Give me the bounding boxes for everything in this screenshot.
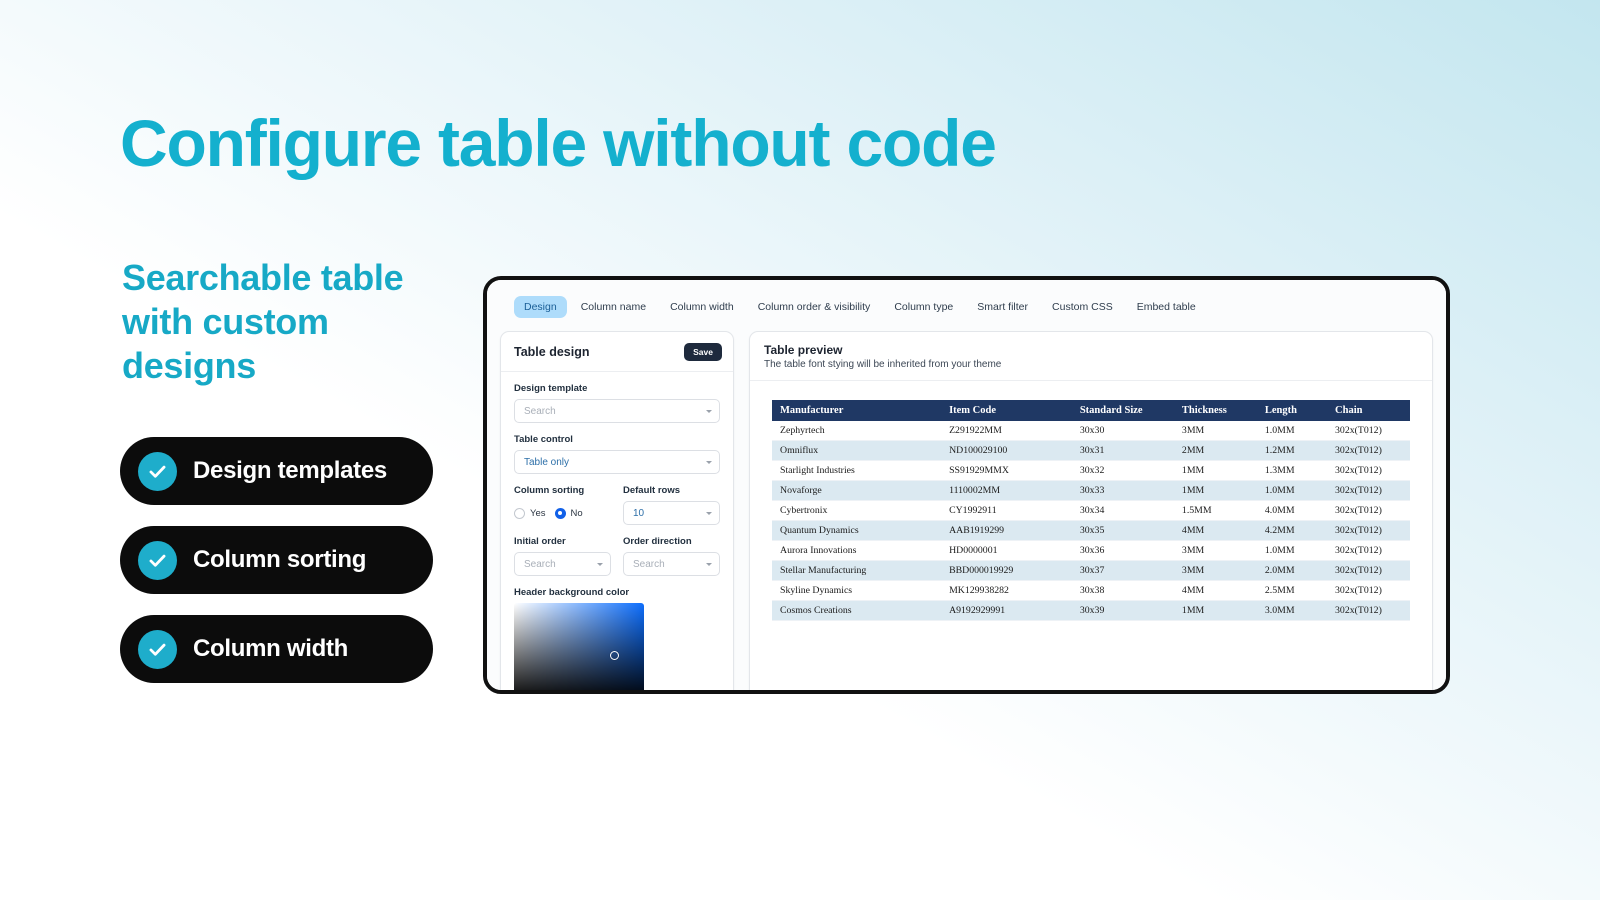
order-direction-select[interactable]: Search — [623, 552, 720, 576]
preview-table: ManufacturerItem CodeStandard SizeThickn… — [772, 400, 1410, 621]
initial-order-field: Initial order Search — [514, 536, 611, 576]
table-cell: 4MM — [1174, 581, 1257, 601]
table-cell: 1MM — [1174, 601, 1257, 621]
header-background-color-field: Header background color — [514, 587, 720, 690]
table-cell: 1.0MM — [1257, 481, 1327, 501]
initial-order-label: Initial order — [514, 536, 611, 547]
table-row: ZephyrtechZ291922MM30x303MM1.0MM302x(T01… — [772, 421, 1410, 441]
table-preview-panel: Table preview The table font stying will… — [749, 331, 1433, 690]
table-cell: 302x(T012) — [1327, 481, 1410, 501]
table-cell: 30x33 — [1072, 481, 1174, 501]
preview-header: Table preview The table font stying will… — [750, 332, 1432, 381]
table-control-value: Table only — [524, 457, 569, 468]
table-cell: 3MM — [1174, 561, 1257, 581]
table-cell: 302x(T012) — [1327, 421, 1410, 441]
check-circle-icon — [138, 541, 177, 580]
table-cell: Stellar Manufacturing — [772, 561, 941, 581]
column-sorting-label: Column sorting — [514, 485, 611, 496]
table-cell: HD0000001 — [941, 541, 1072, 561]
design-template-placeholder: Search — [524, 406, 556, 417]
tab-custom-css[interactable]: Custom CSS — [1042, 296, 1123, 318]
table-cell: 4.2MM — [1257, 521, 1327, 541]
table-cell: 302x(T012) — [1327, 601, 1410, 621]
order-direction-label: Order direction — [623, 536, 720, 547]
feature-pill-label: Column sorting — [193, 546, 366, 574]
design-template-select[interactable]: Search — [514, 399, 720, 423]
table-cell: MK129938282 — [941, 581, 1072, 601]
page-subtitle: Searchable table with custom designs — [122, 256, 462, 388]
default-rows-select[interactable]: 10 — [623, 501, 720, 525]
preview-panel-title: Table preview — [764, 343, 1418, 357]
column-sorting-option-no[interactable]: No — [555, 508, 583, 519]
table-row: OmnifluxND10002910030x312MM1.2MM302x(T01… — [772, 441, 1410, 461]
table-cell: 2MM — [1174, 441, 1257, 461]
table-row: Starlight IndustriesSS91929MMX30x321MM1.… — [772, 461, 1410, 481]
table-cell: 302x(T012) — [1327, 581, 1410, 601]
table-cell: 1.3MM — [1257, 461, 1327, 481]
table-control-label: Table control — [514, 434, 720, 445]
check-circle-icon — [138, 630, 177, 669]
table-cell: 4.0MM — [1257, 501, 1327, 521]
table-cell: AAB1919299 — [941, 521, 1072, 541]
table-cell: 30x37 — [1072, 561, 1174, 581]
table-cell: 30x34 — [1072, 501, 1174, 521]
chevron-down-icon — [706, 461, 712, 464]
table-cell: Starlight Industries — [772, 461, 941, 481]
table-column-header: Length — [1257, 400, 1327, 421]
table-head: ManufacturerItem CodeStandard SizeThickn… — [772, 400, 1410, 421]
table-cell: Z291922MM — [941, 421, 1072, 441]
table-cell: 1.0MM — [1257, 541, 1327, 561]
table-cell: 1.2MM — [1257, 441, 1327, 461]
table-cell: Cybertronix — [772, 501, 941, 521]
feature-pill: Column width — [120, 615, 433, 683]
feature-pill: Column sorting — [120, 526, 433, 594]
table-cell: Novaforge — [772, 481, 941, 501]
header-background-color-label: Header background color — [514, 587, 720, 598]
default-rows-label: Default rows — [623, 485, 720, 496]
table-column-header: Thickness — [1174, 400, 1257, 421]
tab-smart-filter[interactable]: Smart filter — [967, 296, 1038, 318]
table-column-header: Manufacturer — [772, 400, 941, 421]
initial-order-placeholder: Search — [524, 559, 556, 570]
table-cell: BBD000019929 — [941, 561, 1072, 581]
radio-label-yes: Yes — [530, 508, 546, 519]
table-column-header: Chain — [1327, 400, 1410, 421]
table-row: Stellar ManufacturingBBD00001992930x373M… — [772, 561, 1410, 581]
panels-row: Table design Save Design template Search… — [500, 331, 1433, 690]
app-window: DesignColumn nameColumn widthColumn orde… — [483, 276, 1450, 694]
feature-pill-label: Column width — [193, 635, 348, 663]
table-control-select[interactable]: Table only — [514, 450, 720, 474]
settings-panel-title: Table design — [514, 345, 589, 359]
feature-pill-label: Design templates — [193, 457, 387, 485]
preview-body: ManufacturerItem CodeStandard SizeThickn… — [750, 381, 1432, 621]
page-title: Configure table without code — [120, 110, 996, 176]
table-cell: ND100029100 — [941, 441, 1072, 461]
tab-column-type[interactable]: Column type — [884, 296, 963, 318]
table-cell: Omniflux — [772, 441, 941, 461]
table-cell: 302x(T012) — [1327, 521, 1410, 541]
table-cell: CY1992911 — [941, 501, 1072, 521]
table-cell: Cosmos Creations — [772, 601, 941, 621]
default-rows-field: Default rows 10 — [623, 485, 720, 525]
table-cell: 302x(T012) — [1327, 561, 1410, 581]
design-template-label: Design template — [514, 383, 720, 394]
table-cell: 1.5MM — [1174, 501, 1257, 521]
table-cell: 3MM — [1174, 541, 1257, 561]
app-window-content: DesignColumn nameColumn widthColumn orde… — [487, 280, 1446, 690]
order-direction-field: Order direction Search — [623, 536, 720, 576]
table-cell: 302x(T012) — [1327, 441, 1410, 461]
tab-column-width[interactable]: Column width — [660, 296, 744, 318]
table-column-header: Item Code — [941, 400, 1072, 421]
settings-form: Design template Search Table control Tab… — [501, 372, 733, 690]
table-cell: 1MM — [1174, 461, 1257, 481]
order-direction-placeholder: Search — [633, 559, 665, 570]
table-row: Novaforge1110002MM30x331MM1.0MM302x(T012… — [772, 481, 1410, 501]
radio-label-no: No — [571, 508, 583, 519]
table-cell: 30x38 — [1072, 581, 1174, 601]
table-cell: 302x(T012) — [1327, 461, 1410, 481]
table-row: Cosmos CreationsA919292999130x391MM3.0MM… — [772, 601, 1410, 621]
save-button[interactable]: Save — [684, 343, 722, 361]
settings-header: Table design Save — [501, 332, 733, 372]
table-cell: 30x35 — [1072, 521, 1174, 541]
table-cell: 4MM — [1174, 521, 1257, 541]
table-cell: Zephyrtech — [772, 421, 941, 441]
table-column-header: Standard Size — [1072, 400, 1174, 421]
table-cell: 30x30 — [1072, 421, 1174, 441]
table-cell: 302x(T012) — [1327, 501, 1410, 521]
tab-design[interactable]: Design — [514, 296, 567, 318]
table-cell: 3.0MM — [1257, 601, 1327, 621]
table-cell: 1.0MM — [1257, 421, 1327, 441]
chevron-down-icon — [706, 563, 712, 566]
chevron-down-icon — [706, 410, 712, 413]
table-cell: Skyline Dynamics — [772, 581, 941, 601]
table-cell: 2.0MM — [1257, 561, 1327, 581]
table-cell: 1MM — [1174, 481, 1257, 501]
radio-unchecked-icon — [514, 508, 525, 519]
table-header-row: ManufacturerItem CodeStandard SizeThickn… — [772, 400, 1410, 421]
table-cell: 2.5MM — [1257, 581, 1327, 601]
table-row: Aurora InnovationsHD000000130x363MM1.0MM… — [772, 541, 1410, 561]
table-cell: SS91929MMX — [941, 461, 1072, 481]
table-cell: 1110002MM — [941, 481, 1072, 501]
color-picker-handle[interactable] — [610, 651, 619, 660]
column-sorting-radios: Yes No — [514, 501, 611, 525]
table-cell: 30x39 — [1072, 601, 1174, 621]
table-cell: Aurora Innovations — [772, 541, 941, 561]
table-cell: A9192929991 — [941, 601, 1072, 621]
tab-bar: DesignColumn nameColumn widthColumn orde… — [500, 296, 1433, 318]
tab-column-order-visibility[interactable]: Column order & visibility — [748, 296, 881, 318]
table-row: CybertronixCY199291130x341.5MM4.0MM302x(… — [772, 501, 1410, 521]
table-cell: 30x36 — [1072, 541, 1174, 561]
table-body: ZephyrtechZ291922MM30x303MM1.0MM302x(T01… — [772, 421, 1410, 621]
chevron-down-icon — [706, 512, 712, 515]
feature-pill: Design templates — [120, 437, 433, 505]
table-cell: Quantum Dynamics — [772, 521, 941, 541]
design-template-field: Design template Search — [514, 383, 720, 423]
table-control-field: Table control Table only — [514, 434, 720, 474]
feature-list: Design templatesColumn sortingColumn wid… — [120, 437, 433, 683]
table-row: Skyline DynamicsMK12993828230x384MM2.5MM… — [772, 581, 1410, 601]
initial-order-select[interactable]: Search — [514, 552, 611, 576]
column-sorting-option-yes[interactable]: Yes — [514, 508, 546, 519]
tab-embed-table[interactable]: Embed table — [1127, 296, 1206, 318]
order-row: Initial order Search Order direction Sea… — [514, 536, 720, 576]
table-cell: 30x31 — [1072, 441, 1174, 461]
table-cell: 30x32 — [1072, 461, 1174, 481]
default-rows-value: 10 — [633, 508, 644, 519]
check-circle-icon — [138, 452, 177, 491]
preview-panel-subtitle: The table font stying will be inherited … — [764, 359, 1418, 370]
table-cell: 3MM — [1174, 421, 1257, 441]
table-cell: 302x(T012) — [1327, 541, 1410, 561]
table-row: Quantum DynamicsAAB191929930x354MM4.2MM3… — [772, 521, 1410, 541]
chevron-down-icon — [597, 563, 603, 566]
table-design-panel: Table design Save Design template Search… — [500, 331, 734, 690]
radio-checked-icon — [555, 508, 566, 519]
tab-column-name[interactable]: Column name — [571, 296, 656, 318]
color-picker-saturation-area[interactable] — [514, 603, 644, 690]
column-sorting-field: Column sorting Yes No — [514, 485, 611, 525]
sorting-rows-row: Column sorting Yes No — [514, 485, 720, 525]
